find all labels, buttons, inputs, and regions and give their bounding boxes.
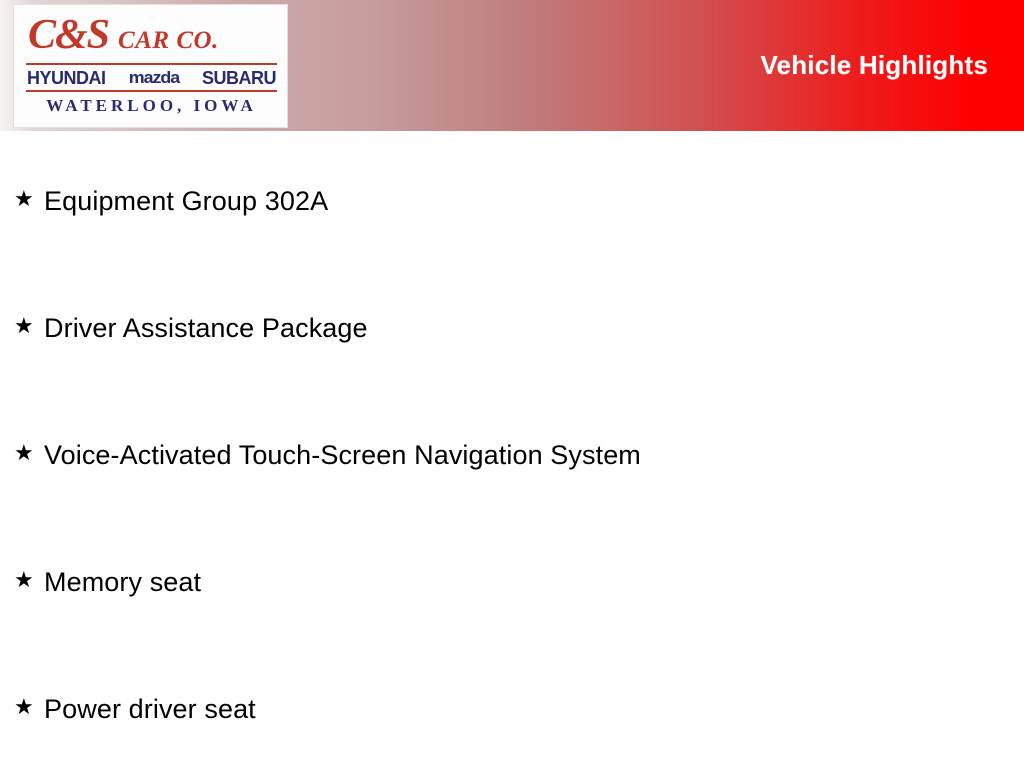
- logo-brand-subaru: SUBARU: [202, 68, 276, 88]
- logo-divider-bottom: [26, 90, 277, 92]
- logo-brand-hyundai: HYUNDAI: [27, 68, 106, 88]
- logo-wordmark: C&S CAR CO.: [24, 14, 279, 62]
- slide-canvas: Vehicle Highlights C&S CAR CO. HYUNDAI m…: [0, 0, 1024, 768]
- logo-primary-text: C&S: [28, 14, 109, 56]
- list-item-label: Power driver seat: [44, 692, 256, 726]
- list-item-label: Memory seat: [44, 565, 201, 599]
- dealer-logo-inner: C&S CAR CO. HYUNDAI mazda SUBARU WATERLO…: [14, 5, 288, 128]
- dealer-logo: C&S CAR CO. HYUNDAI mazda SUBARU WATERLO…: [13, 4, 288, 128]
- logo-brand-mazda: mazda: [129, 68, 179, 88]
- highlights-list: ★ Equipment Group 302A ★ Driver Assistan…: [0, 131, 1024, 768]
- star-icon: ★: [14, 184, 44, 214]
- list-item-label: Voice-Activated Touch-Screen Navigation …: [44, 438, 641, 472]
- star-icon: ★: [14, 565, 44, 595]
- page-title: Vehicle Highlights: [760, 50, 988, 81]
- star-icon: ★: [14, 438, 44, 468]
- star-icon: ★: [14, 692, 44, 722]
- star-icon: ★: [14, 311, 44, 341]
- logo-divider-top: [26, 63, 277, 65]
- list-item: ★ Power driver seat: [14, 689, 256, 729]
- list-item-label: Equipment Group 302A: [44, 184, 328, 218]
- logo-brand-row: HYUNDAI mazda SUBARU: [24, 67, 279, 89]
- list-item: ★ Equipment Group 302A: [14, 181, 328, 221]
- logo-city-text: WATERLOO, IOWA: [24, 94, 279, 117]
- list-item: ★ Driver Assistance Package: [14, 308, 368, 348]
- list-item-label: Driver Assistance Package: [44, 311, 368, 345]
- list-item: ★ Voice-Activated Touch-Screen Navigatio…: [14, 435, 641, 475]
- list-item: ★ Memory seat: [14, 562, 201, 602]
- logo-secondary-text: CAR CO.: [118, 28, 219, 53]
